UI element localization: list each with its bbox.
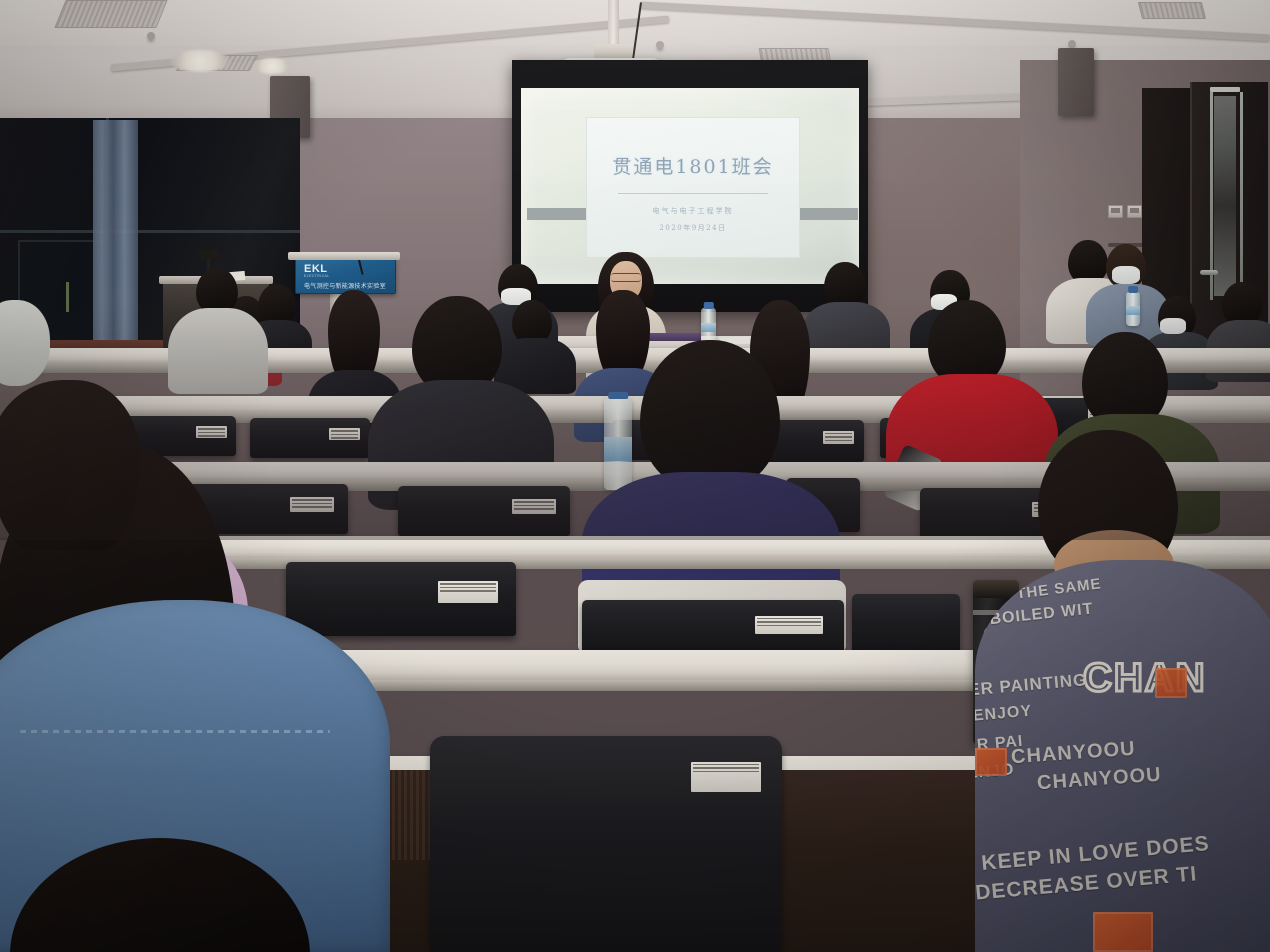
ceiling-downlight	[252, 58, 292, 74]
tshirt-text-line: CHANYOOU	[1036, 764, 1162, 796]
classroom-photo: EPSON 贯通电1801班会 电气与电子工程学院 2020年9月24日	[0, 0, 1270, 952]
window-mullion	[0, 230, 300, 233]
door-rail	[1210, 92, 1213, 300]
tshirt-graphic-box	[975, 748, 1007, 776]
door-handle[interactable]	[1200, 270, 1218, 275]
door-glass	[1214, 96, 1236, 296]
sprinkler-icon	[147, 32, 155, 40]
slide-decor-bar-left	[527, 208, 587, 220]
microphone-arm	[354, 258, 363, 275]
bottle-cap	[1128, 286, 1138, 293]
chair-asset-label	[755, 616, 823, 634]
tshirt-logo: CHAN	[1083, 656, 1207, 701]
chair[interactable]	[286, 562, 516, 636]
sprinkler-icon	[656, 41, 664, 49]
lectern-top	[288, 252, 400, 260]
ekl-logo-sub: ELECTRICAL	[304, 274, 330, 278]
tshirt-text-line: CHANYOOU	[1010, 738, 1136, 770]
chair-asset-label	[691, 762, 761, 792]
slide-divider	[618, 193, 768, 194]
slide-decor-bar-right	[792, 208, 858, 220]
door-sign	[1210, 87, 1240, 92]
ceiling-downlight	[170, 50, 230, 72]
tshirt-graphic-box	[1155, 668, 1187, 698]
tshirt-text-line: R ENJOY	[975, 703, 1033, 728]
slide-title: 贯通电1801班会	[612, 152, 773, 179]
door-rail	[1240, 92, 1243, 300]
sprinkler-icon	[1068, 40, 1076, 48]
glasses-icon	[611, 273, 641, 282]
av-equipment	[199, 250, 219, 259]
slide-content: 贯通电1801班会 电气与电子工程学院 2020年9月24日	[586, 117, 800, 258]
chair-asset-label	[438, 581, 498, 603]
tshirt-text-line: MER PAINTING	[975, 670, 1088, 702]
ambient-shadow	[0, 300, 1270, 540]
foreground-attendee-tshirt: TO DO THE SAME AS I BOILED WIT CHAN MER …	[975, 560, 1270, 952]
wall-switch[interactable]	[1127, 205, 1142, 218]
lectern-caption: 电气测控与新能源技术实验室	[304, 281, 386, 290]
wall-speaker-right	[1058, 48, 1094, 116]
lectern-sign: EKL ELECTRICAL 电气测控与新能源技术实验室	[295, 258, 396, 294]
ceiling-vent	[54, 0, 167, 28]
chair[interactable]	[852, 594, 960, 656]
chair-foreground[interactable]	[430, 736, 782, 952]
denim-seam	[20, 730, 330, 733]
tshirt-graphic-box	[1093, 912, 1153, 952]
projector-pole	[608, 0, 619, 46]
ceiling-vent	[1138, 2, 1206, 19]
slide-subtitle-date: 2020年9月24日	[659, 223, 726, 233]
slide-subtitle-org: 电气与电子工程学院	[653, 206, 734, 216]
wall-switch[interactable]	[1108, 205, 1123, 218]
